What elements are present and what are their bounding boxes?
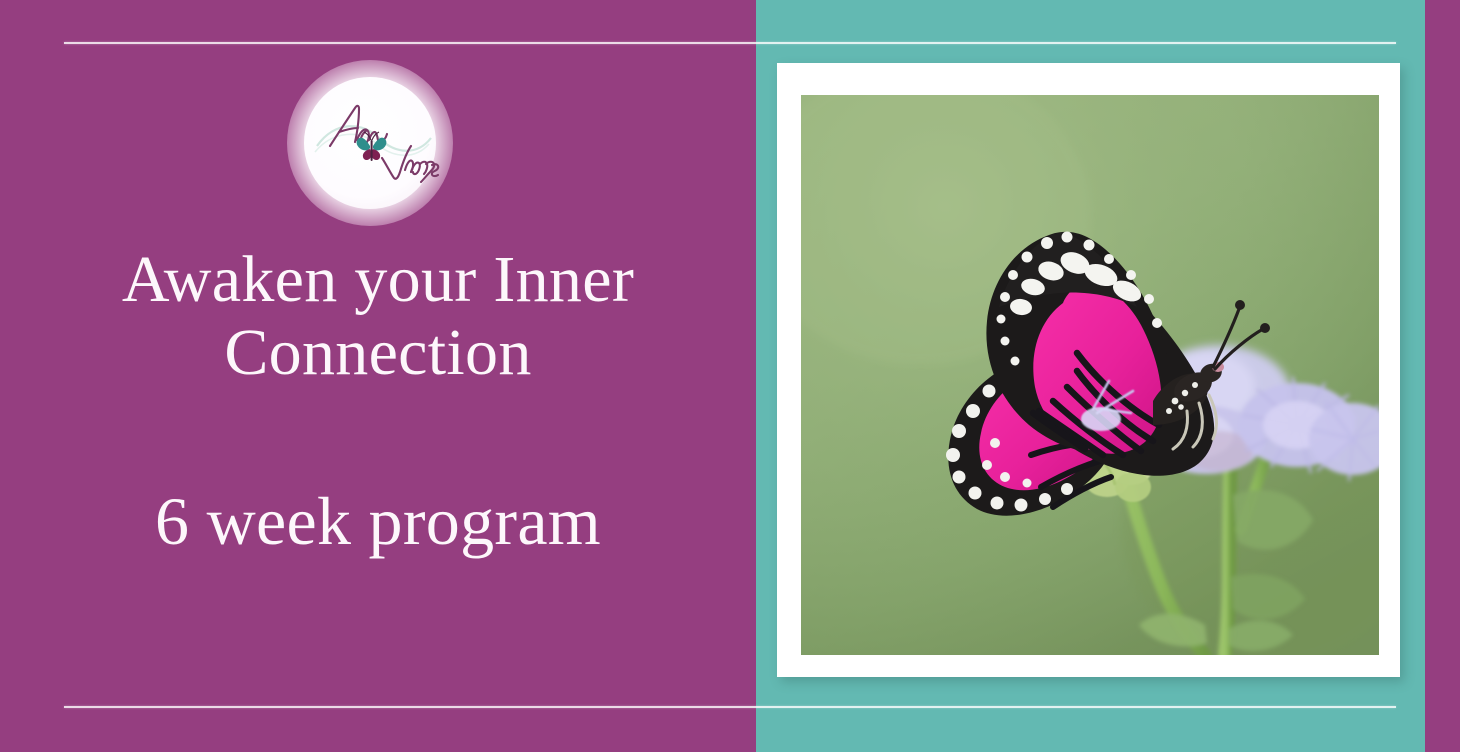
photo-frame xyxy=(777,63,1400,677)
page-title: Awaken your Inner Connection xyxy=(0,243,756,390)
headline-line-1: Awaken your Inner xyxy=(0,243,756,316)
slide-canvas: Awaken your Inner Connection 6 week prog… xyxy=(0,0,1460,752)
butterfly-on-flowers-photo xyxy=(801,95,1379,655)
top-divider-line xyxy=(64,42,1396,44)
brand-logo[interactable] xyxy=(287,60,453,226)
logo-artwork xyxy=(287,60,453,226)
program-subtitle: 6 week program xyxy=(0,484,756,559)
photo-artwork xyxy=(801,95,1379,655)
bottom-divider-line xyxy=(64,706,1396,708)
headline-line-2: Connection xyxy=(0,316,756,389)
right-purple-strip xyxy=(1425,0,1460,752)
